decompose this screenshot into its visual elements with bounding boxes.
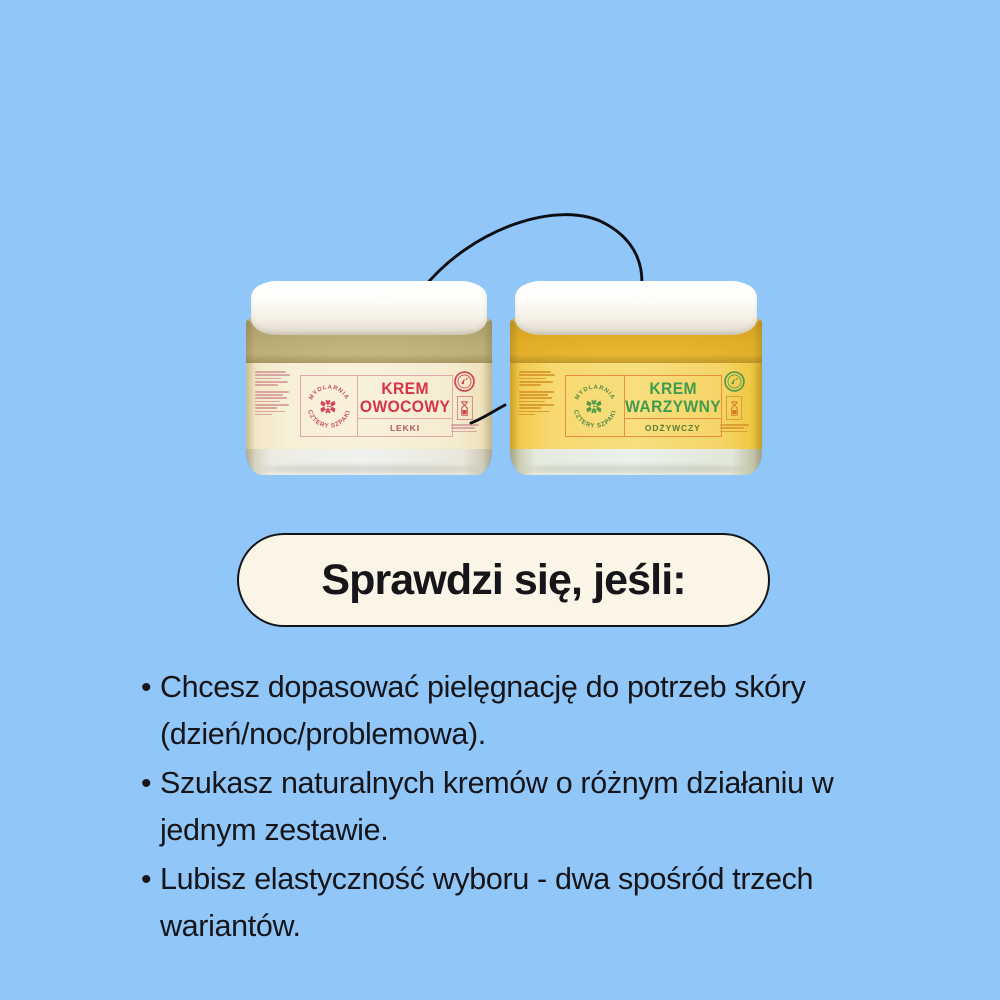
label-frame: MYDLARNIA CZTERY SZPAKI <box>565 375 721 437</box>
ingredient-microprint <box>255 371 292 441</box>
product-jar-krem-warzywny[interactable]: MYDLARNIA CZTERY SZPAKI <box>510 281 762 475</box>
product-name-line2: OWOCOWY <box>360 397 450 416</box>
cruelty-free-badge-icon <box>724 371 745 392</box>
product-name: KREM WARZYWNY <box>625 380 721 415</box>
product-name-line1: KREM <box>381 379 429 398</box>
jar-label: MYDLARNIA CZTERY SZPAKI <box>510 363 762 449</box>
jar-body: MYDLARNIA CZTERY SZPAKI <box>510 317 762 475</box>
poster-canvas: MYDLARNIA CZTERY SZPAKI <box>0 0 1000 1000</box>
benefits-list: • Chcesz dopasować pielęgnację do potrze… <box>138 664 898 952</box>
brand-logo-cell: MYDLARNIA CZTERY SZPAKI <box>566 376 625 436</box>
jar-glass-base <box>246 449 492 475</box>
product-variant: LEKKI <box>390 423 420 433</box>
product-name-line1: KREM <box>649 379 697 398</box>
bullet-marker-icon: • <box>138 856 160 903</box>
jar-body: MYDLARNIA CZTERY SZPAKI <box>246 317 492 475</box>
list-item-text: Chcesz dopasować pielęgnację do potrzeb … <box>160 664 860 758</box>
list-item-text: Szukasz naturalnych kremów o różnym dzia… <box>160 760 860 854</box>
bullet-marker-icon: • <box>138 664 160 711</box>
four-starlings-logo-icon: MYDLARNIA CZTERY SZPAKI <box>302 379 356 433</box>
product-jar-krem-owocowy[interactable]: MYDLARNIA CZTERY SZPAKI <box>246 281 492 475</box>
cruelty-free-badge-icon <box>454 371 475 392</box>
list-item: • Chcesz dopasować pielęgnację do potrze… <box>138 664 898 758</box>
label-frame: MYDLARNIA CZTERY SZPAKI <box>300 375 453 437</box>
list-item-text: Lubisz elastyczność wyboru - dwa spośród… <box>160 856 860 950</box>
four-starlings-logo-icon: MYDLARNIA CZTERY SZPAKI <box>568 379 622 433</box>
pao-hourglass-icon <box>457 396 473 420</box>
product-variant: ODŻYWCZY <box>645 423 701 433</box>
product-name-line2: WARZYWNY <box>625 397 721 416</box>
svg-text:MYDLARNIA: MYDLARNIA <box>575 385 616 401</box>
brand-logo-cell: MYDLARNIA CZTERY SZPAKI <box>301 376 358 436</box>
jar-lid <box>251 281 487 335</box>
svg-text:MYDLARNIA: MYDLARNIA <box>309 385 350 401</box>
list-item: • Szukasz naturalnych kremów o różnym dz… <box>138 760 898 854</box>
list-item: • Lubisz elastyczność wyboru - dwa spośr… <box>138 856 898 950</box>
bullet-marker-icon: • <box>138 760 160 807</box>
brand-top-text: MYDLARNIA <box>309 385 350 401</box>
jar-lid <box>515 281 757 335</box>
heading-pill: Sprawdzi się, jeśli: <box>237 533 770 627</box>
certification-badges <box>447 371 484 443</box>
page-title: Sprawdzi się, jeśli: <box>321 556 685 605</box>
brand-top-text: MYDLARNIA <box>575 385 616 401</box>
jar-glass-base <box>510 449 762 475</box>
pao-hourglass-icon <box>726 396 742 420</box>
product-name: KREM OWOCOWY <box>360 380 450 415</box>
certification-badges <box>715 371 753 443</box>
product-group: MYDLARNIA CZTERY SZPAKI <box>0 0 1000 520</box>
jar-label: MYDLARNIA CZTERY SZPAKI <box>246 363 492 449</box>
ingredient-microprint <box>519 371 557 441</box>
